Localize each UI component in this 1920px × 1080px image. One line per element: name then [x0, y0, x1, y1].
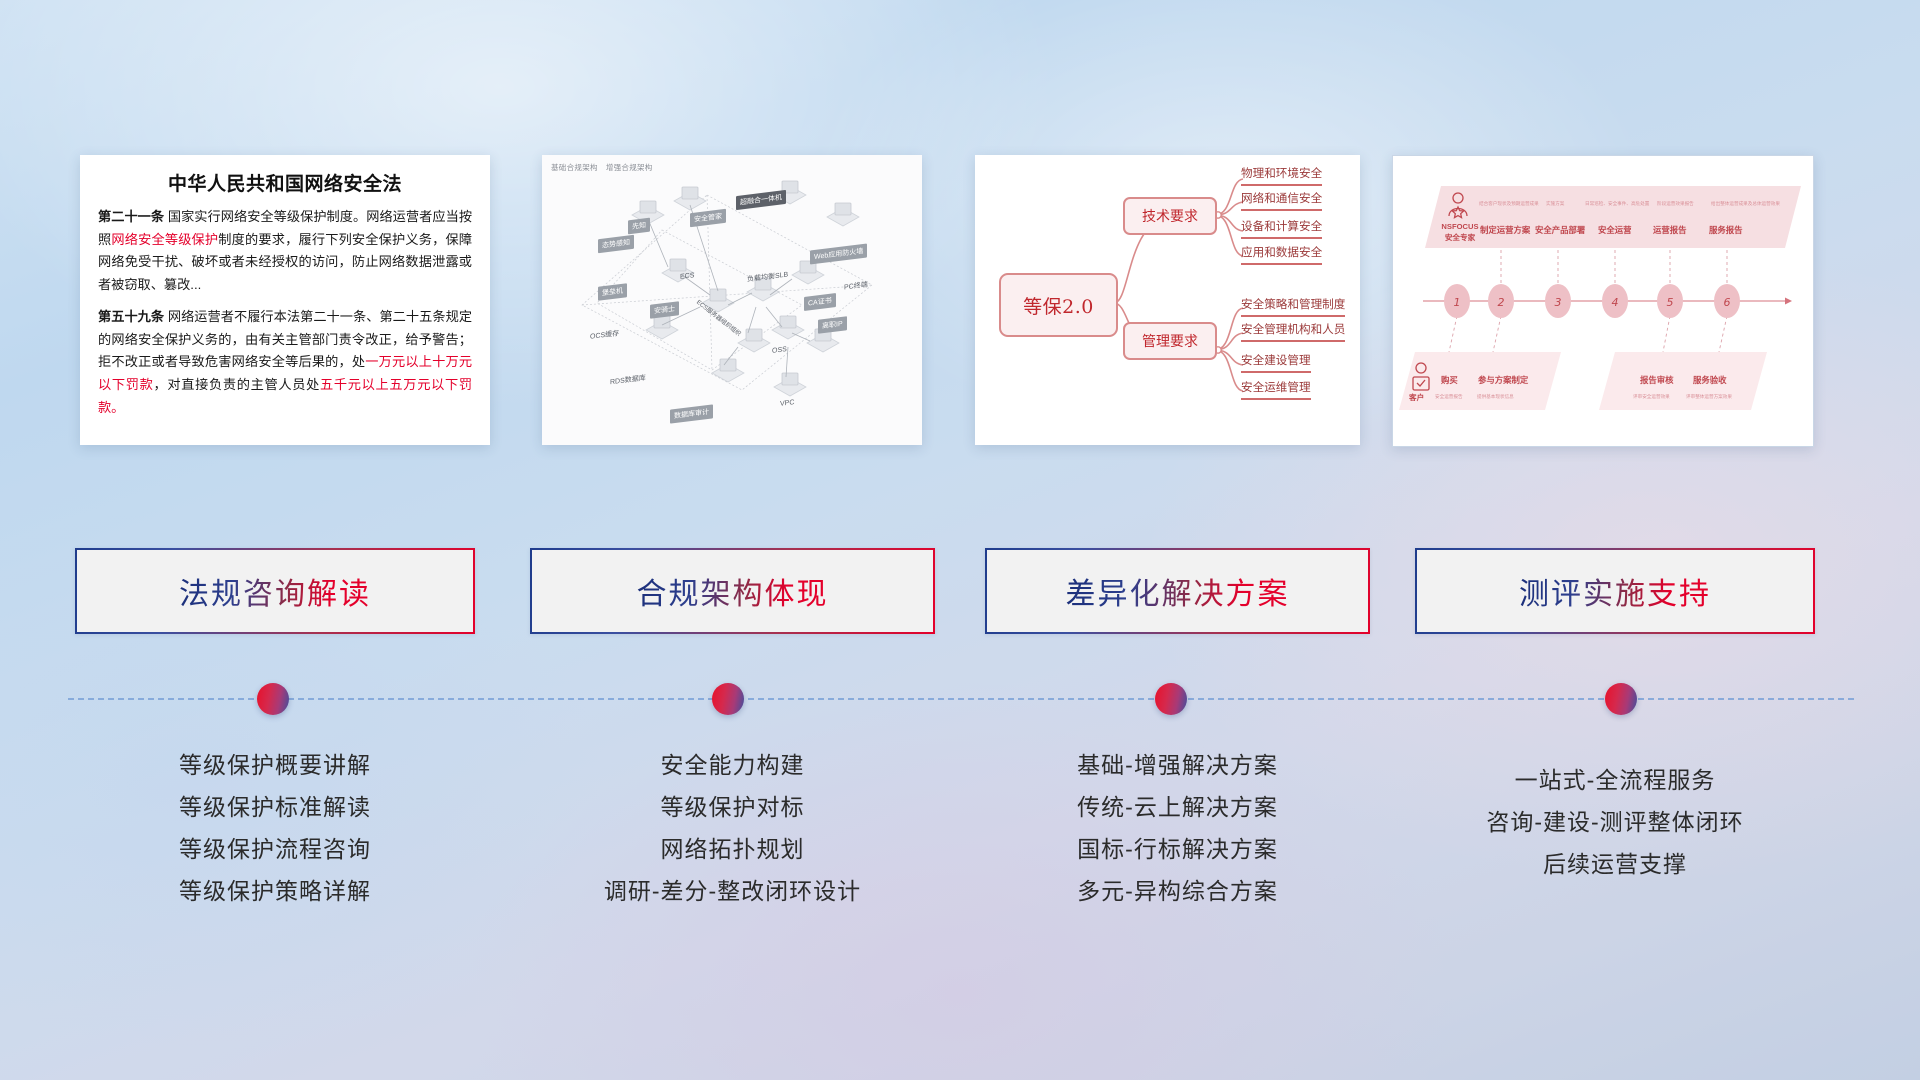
section-header-2[interactable]: 合规架构体现: [530, 548, 935, 634]
mindmap-leaf-app-data: 应用和数据安全: [1241, 244, 1322, 265]
bottom-step-1-sub: 安全运营报告: [1435, 394, 1463, 400]
architecture-diagram: 基础合规架构增强合规架构: [542, 155, 922, 445]
law-document: 中华人民共和国网络安全法 第二十一条 国家实行网络安全等级保护制度。网络运营者应…: [80, 155, 490, 445]
nsfocus-process: 12 34 56 NSFOCUS 安全专家 结合: [1393, 156, 1813, 446]
node-label-prophet: 先知: [628, 218, 650, 235]
top-step-3-sub: 日常巡检、安全事件、高危处置: [1585, 201, 1649, 207]
bottom-step-3-title: 报告审核: [1640, 374, 1674, 386]
list-item: 基础-增强解决方案: [985, 745, 1370, 787]
timeline-dot-4[interactable]: [1605, 683, 1637, 715]
top-step-1-sub: 结合客户现状及预期运营成果: [1479, 201, 1539, 207]
mindmap-leaf-policy-system: 安全策略和管理制度: [1241, 296, 1345, 317]
bottom-step-2-title: 参与方案制定: [1478, 374, 1528, 386]
feature-list-3: 基础-增强解决方案 传统-云上解决方案 国标-行标解决方案 多元-异构综合方案: [985, 745, 1370, 912]
list-item: 传统-云上解决方案: [985, 787, 1370, 829]
list-item: 一站式-全流程服务: [1415, 760, 1815, 802]
svg-text:4: 4: [1612, 296, 1619, 309]
list-item: 网络拓扑规划: [530, 829, 935, 871]
list-item: 安全能力构建: [530, 745, 935, 787]
card-cybersecurity-law: 中华人民共和国网络安全法 第二十一条 国家实行网络安全等级保护制度。网络运营者应…: [80, 155, 490, 445]
top-step-1-title: 制定运营方案: [1480, 224, 1530, 236]
top-step-2-sub: 实施方案: [1546, 201, 1564, 207]
list-item: 国标-行标解决方案: [985, 829, 1370, 871]
mindmap-leaf-physical-env: 物理和环境安全: [1241, 165, 1322, 186]
section-header-4-label: 测评实施支持: [1519, 569, 1711, 613]
section-header-4[interactable]: 测评实施支持: [1415, 548, 1815, 634]
mindmap-branch-technical: 技术要求: [1123, 197, 1217, 235]
section-header-3-label: 差异化解决方案: [1066, 569, 1290, 613]
feature-list-1: 等级保护概要讲解 等级保护标准解读 等级保护流程咨询 等级保护策略详解: [75, 745, 475, 912]
list-item: 等级保护流程咨询: [75, 829, 475, 871]
timeline-dashed-line: [68, 698, 1854, 700]
list-item: 咨询-建设-测评整体闭环: [1415, 802, 1815, 844]
mindmap-root-dengbao: 等保2.0: [999, 273, 1118, 337]
mindmap-leaf-device-compute: 设备和计算安全: [1241, 218, 1322, 239]
timeline-dot-3[interactable]: [1155, 683, 1187, 715]
section-header-1-label: 法规咨询解读: [179, 569, 371, 613]
bottom-step-2-sub: 提供基本现状信息: [1477, 394, 1514, 400]
bottom-step-4-sub: 评审整体运营方案效果: [1686, 394, 1732, 400]
list-item: 等级保护概要讲解: [75, 745, 475, 787]
mindmap-leaf-construction-mgmt: 安全建设管理: [1241, 352, 1311, 373]
article-59-label: 第五十九条: [98, 309, 164, 324]
card-compliance-architecture: 基础合规架构增强合规架构: [542, 155, 922, 445]
top-step-5-sub: 给出整体运营成果及总体运营效果: [1711, 201, 1780, 207]
list-item: 等级保护标准解读: [75, 787, 475, 829]
nsfocus-role: 安全专家: [1439, 232, 1481, 243]
mindmap-leaf-ops-mgmt: 安全运维管理: [1241, 379, 1311, 400]
law-article-59: 第五十九条 网络运营者不履行本法第二十一条、第二十五条规定的网络安全保护义务的，…: [98, 306, 472, 420]
card-dengbao-mindmap: 等保2.0 技术要求 管理要求 物理和环境安全 网络和通信安全 设备和计算安全 …: [975, 155, 1360, 445]
mindmap-branch-management: 管理要求: [1123, 322, 1217, 360]
top-step-3-title: 安全运营: [1598, 224, 1632, 236]
card-nsfocus-timeline: 12 34 56 NSFOCUS 安全专家 结合: [1392, 155, 1814, 447]
svg-text:5: 5: [1667, 296, 1674, 309]
top-step-2-title: 安全产品部署: [1535, 224, 1585, 236]
mindmap-leaf-org-personnel: 安全管理机构和人员: [1241, 321, 1345, 342]
top-step-5-title: 服务报告: [1709, 224, 1743, 236]
nsfocus-brand: NSFOCUS: [1439, 222, 1481, 231]
bottom-step-4-title: 服务验收: [1693, 374, 1727, 386]
list-item: 调研-差分-整改闭环设计: [530, 871, 935, 913]
bottom-step-3-sub: 评审安全运营效果: [1633, 394, 1670, 400]
law-article-21: 第二十一条 国家实行网络安全等级保护制度。网络运营者应当按照网络安全等级保护制度…: [98, 206, 472, 297]
svg-text:1: 1: [1454, 296, 1461, 309]
nsfocus-svg: 12 34 56: [1393, 156, 1813, 446]
list-item: 多元-异构综合方案: [985, 871, 1370, 913]
mindmap-leaf-network-comm: 网络和通信安全: [1241, 190, 1322, 211]
feature-list-4: 一站式-全流程服务 咨询-建设-测评整体闭环 后续运营支撑: [1415, 760, 1815, 886]
svg-text:2: 2: [1498, 296, 1505, 309]
customer-role-label: 客户: [1409, 392, 1424, 403]
svg-text:3: 3: [1555, 296, 1562, 309]
list-item: 等级保护对标: [530, 787, 935, 829]
mindmap: 等保2.0 技术要求 管理要求 物理和环境安全 网络和通信安全 设备和计算安全 …: [975, 155, 1360, 445]
article-21-label: 第二十一条: [98, 209, 164, 224]
section-header-3[interactable]: 差异化解决方案: [985, 548, 1370, 634]
feature-list-2: 安全能力构建 等级保护对标 网络拓扑规划 调研-差分-整改闭环设计: [530, 745, 935, 912]
timeline-dot-2[interactable]: [712, 683, 744, 715]
section-header-1[interactable]: 法规咨询解读: [75, 548, 475, 634]
timeline-dot-1[interactable]: [257, 683, 289, 715]
top-step-4-sub: 阶段运营效果报告: [1657, 201, 1694, 207]
article-21-highlight: 网络安全等级保护: [111, 232, 218, 247]
svg-text:6: 6: [1724, 296, 1731, 309]
section-header-2-label: 合规架构体现: [637, 569, 829, 613]
bottom-step-1-title: 购买: [1441, 374, 1458, 386]
list-item: 等级保护策略详解: [75, 871, 475, 913]
slide-stage: 中华人民共和国网络安全法 第二十一条 国家实行网络安全等级保护制度。网络运营者应…: [0, 0, 1920, 1080]
list-item: 后续运营支撑: [1415, 844, 1815, 886]
law-title: 中华人民共和国网络安全法: [98, 169, 472, 196]
top-step-4-title: 运营报告: [1653, 224, 1687, 236]
article-59-text-b: ，对直接负责的主管人员处: [154, 377, 321, 392]
